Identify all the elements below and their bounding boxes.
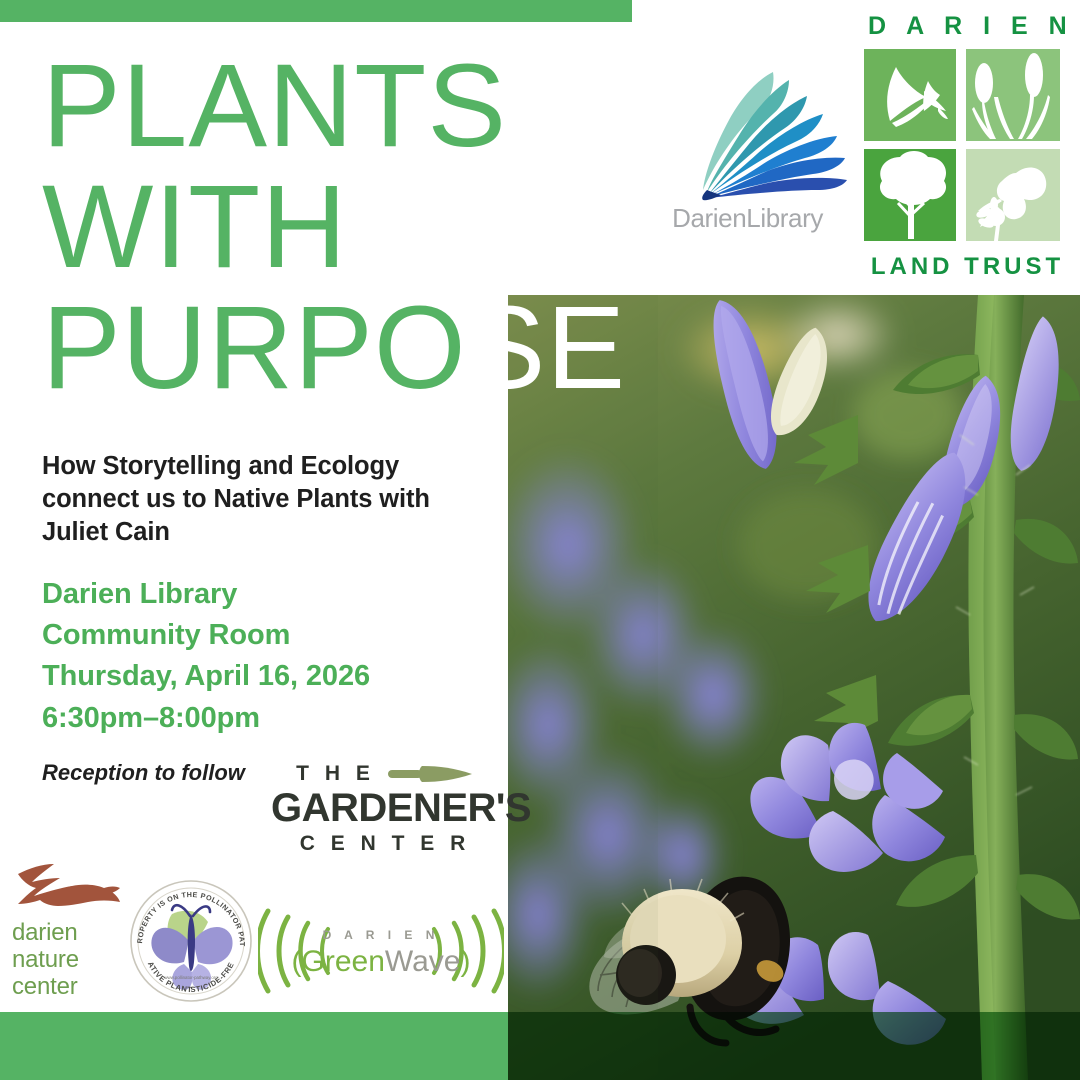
land-trust-bottom-word: LAND TRUST	[868, 253, 1067, 281]
reception-note: Reception to follow	[42, 760, 245, 786]
gardeners-center-logo: T H E GARDENER'S C E N T E R	[271, 762, 499, 860]
gardeners-main-word: GARDENER'S	[271, 787, 499, 829]
library-fan-icon	[645, 62, 850, 202]
event-room: Community Room	[42, 615, 482, 656]
panel-tree	[864, 149, 956, 241]
gardeners-center-word: C E N T E R	[271, 832, 499, 856]
greenwave-icon: D A R I E N (GreenWave)	[258, 905, 504, 997]
event-subtitle: How Storytelling and Ecology connect us …	[42, 450, 472, 549]
bottom-green-bar	[0, 1012, 508, 1080]
panel-butterfly-flower	[966, 149, 1060, 241]
seal-url-text: www.pollinator-pathway.org	[164, 975, 218, 980]
land-trust-panel-grid	[862, 47, 1062, 243]
panel-birds	[864, 49, 956, 141]
land-trust-top-word: D A R I E N	[868, 12, 1067, 41]
top-green-bar	[0, 0, 632, 22]
nature-center-line-1: darien	[12, 920, 126, 947]
gardeners-top-row: T H E	[271, 762, 499, 786]
pollinator-pathway-seal: THIS PROPERTY IS ON THE POLLINATOR PATHW…	[128, 878, 254, 1004]
bee-on-lobelia-photo	[508, 295, 1080, 1080]
library-wordmark: DarienLibrary	[645, 203, 850, 234]
darien-land-trust-logo: D A R I E N	[862, 12, 1067, 280]
pollinator-pathway-icon: THIS PROPERTY IS ON THE POLLINATOR PATHW…	[128, 878, 254, 1004]
nature-center-wordmark: darien nature center	[8, 920, 126, 1001]
event-date: Thursday, April 16, 2026	[42, 656, 482, 697]
event-time: 6:30pm–8:00pm	[42, 698, 482, 739]
greenwave-main-word: (GreenWave)	[292, 945, 471, 978]
headline-purpo: PURPO	[42, 282, 467, 414]
poster-canvas: PLANTS WITH PURPOSE How Storytelling and…	[0, 0, 1080, 1080]
event-details: Darien Library Community Room Thursday, …	[42, 574, 482, 739]
gardeners-the: T H E	[296, 762, 375, 786]
darien-greenwave-logo: D A R I E N (GreenWave)	[258, 905, 504, 997]
nature-center-line-2: nature	[12, 947, 126, 974]
photo-illustration	[508, 295, 1080, 1080]
heron-icon	[12, 858, 122, 916]
trowel-icon	[388, 763, 474, 785]
event-venue: Darien Library	[42, 574, 482, 615]
greenwave-top-word: D A R I E N	[323, 928, 440, 942]
panel-cattails	[966, 49, 1060, 141]
nature-center-line-3: center	[12, 974, 126, 1001]
darien-library-logo: DarienLibrary	[645, 62, 850, 247]
darien-nature-center-logo: darien nature center	[8, 858, 126, 1010]
